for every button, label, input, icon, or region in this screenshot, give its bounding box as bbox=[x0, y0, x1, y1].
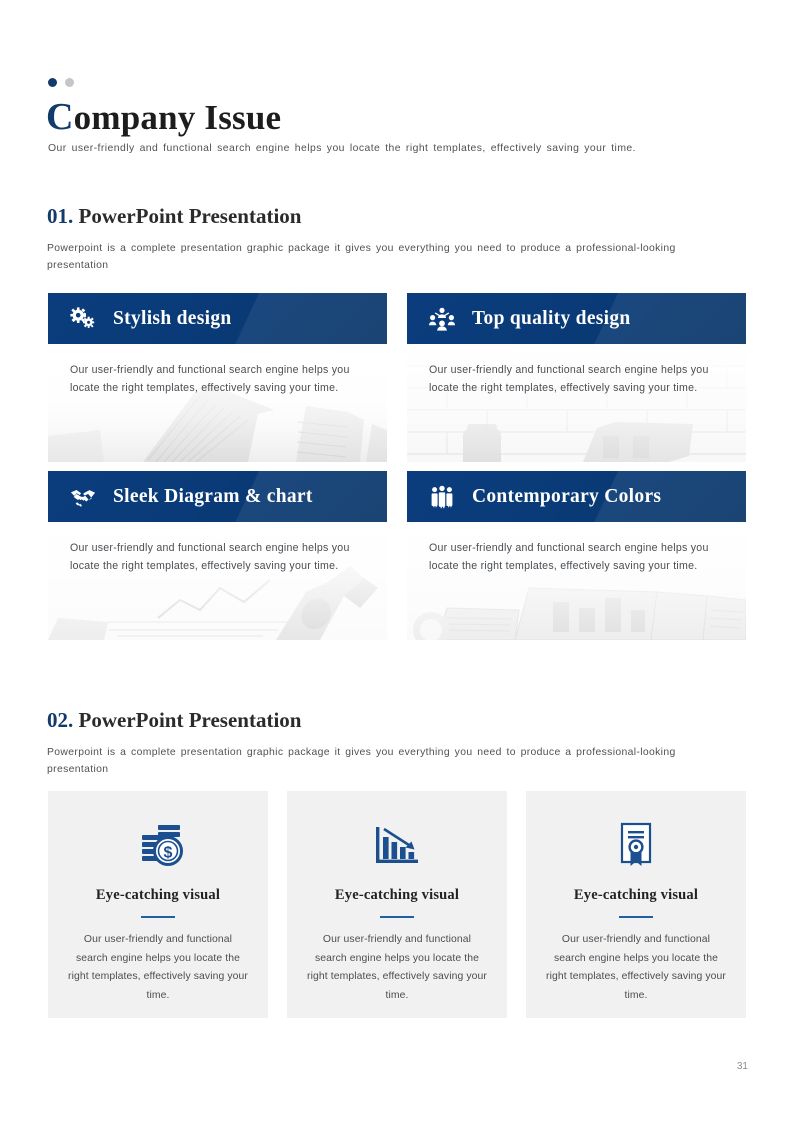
page-title: Company Issue bbox=[46, 95, 281, 139]
feature-card-title: Top quality design bbox=[472, 308, 631, 330]
visual-card-text: Our user-friendly and functional search … bbox=[307, 931, 487, 1005]
svg-text:$: $ bbox=[164, 845, 173, 862]
page-title-rest: ompany Issue bbox=[74, 98, 282, 137]
dot-active-icon bbox=[48, 78, 57, 87]
feature-card-row: Sleek Diagram & chart bbox=[48, 471, 746, 640]
slide-page: Company Issue Our user-friendly and func… bbox=[0, 0, 794, 1123]
feature-card-title: Stylish design bbox=[113, 308, 232, 330]
section-02-description: Powerpoint is a complete presentation gr… bbox=[47, 744, 733, 778]
feature-card-header: Sleek Diagram & chart bbox=[48, 471, 387, 522]
section-02-number: 02. bbox=[47, 708, 73, 732]
page-number: 31 bbox=[737, 1061, 748, 1072]
section-01-number: 01. bbox=[47, 204, 73, 228]
handshake-icon bbox=[70, 484, 96, 510]
gears-icon bbox=[70, 306, 96, 332]
feature-card-header: Contemporary Colors bbox=[407, 471, 746, 522]
feature-card-header: Top quality design bbox=[407, 293, 746, 344]
feature-card-title: Contemporary Colors bbox=[472, 486, 661, 508]
visual-card-title: Eye-catching visual bbox=[574, 887, 698, 904]
dot-inactive-icon bbox=[65, 78, 74, 87]
feature-card-body: Our user-friendly and functional search … bbox=[48, 522, 387, 640]
page-subtitle: Our user-friendly and functional search … bbox=[48, 143, 748, 154]
certificate-award-icon bbox=[614, 817, 658, 873]
visual-card-title: Eye-catching visual bbox=[335, 887, 459, 904]
feature-card-sleek-diagram-chart[interactable]: Sleek Diagram & chart bbox=[48, 471, 387, 640]
slide-dots-indicator bbox=[48, 78, 74, 87]
page-title-initial: C bbox=[46, 96, 74, 138]
declining-bar-chart-icon bbox=[370, 817, 424, 873]
feature-card-title: Sleek Diagram & chart bbox=[113, 486, 313, 508]
feature-card-top-quality-design[interactable]: Top quality design bbox=[407, 293, 746, 462]
title-divider bbox=[619, 916, 653, 918]
feature-card-body: Our user-friendly and functional search … bbox=[407, 344, 746, 462]
visual-card-text: Our user-friendly and functional search … bbox=[546, 931, 726, 1005]
section-01-description: Powerpoint is a complete presentation gr… bbox=[47, 240, 733, 274]
section-01-heading: 01. PowerPoint Presentation bbox=[47, 204, 301, 229]
visual-card-grid: $ Eye-catching visual Our user-friendly … bbox=[48, 791, 746, 1018]
section-02-heading: 02. PowerPoint Presentation bbox=[47, 708, 301, 733]
feature-card-text: Our user-friendly and functional search … bbox=[407, 522, 746, 575]
visual-card-text: Our user-friendly and functional search … bbox=[68, 931, 248, 1005]
visual-card-1[interactable]: $ Eye-catching visual Our user-friendly … bbox=[48, 791, 268, 1018]
section-02-title: PowerPoint Presentation bbox=[79, 708, 302, 732]
feature-card-text: Our user-friendly and functional search … bbox=[48, 344, 387, 397]
feature-card-contemporary-colors[interactable]: Contemporary Colors bbox=[407, 471, 746, 640]
feature-card-text: Our user-friendly and functional search … bbox=[407, 344, 746, 397]
title-divider bbox=[380, 916, 414, 918]
three-people-icon bbox=[429, 484, 455, 510]
feature-card-text: Our user-friendly and functional search … bbox=[48, 522, 387, 575]
visual-card-title: Eye-catching visual bbox=[96, 887, 220, 904]
title-divider bbox=[141, 916, 175, 918]
people-network-icon bbox=[429, 306, 455, 332]
feature-card-row: Stylish design bbox=[48, 293, 746, 462]
coins-dollar-icon: $ bbox=[130, 817, 186, 873]
section-01-title: PowerPoint Presentation bbox=[79, 204, 302, 228]
visual-card-2[interactable]: Eye-catching visual Our user-friendly an… bbox=[287, 791, 507, 1018]
visual-card-3[interactable]: Eye-catching visual Our user-friendly an… bbox=[526, 791, 746, 1018]
feature-card-body: Our user-friendly and functional search … bbox=[48, 344, 387, 462]
feature-card-stylish-design[interactable]: Stylish design bbox=[48, 293, 387, 462]
feature-card-header: Stylish design bbox=[48, 293, 387, 344]
feature-card-body: Our user-friendly and functional search … bbox=[407, 522, 746, 640]
feature-card-grid: Stylish design bbox=[48, 293, 746, 649]
